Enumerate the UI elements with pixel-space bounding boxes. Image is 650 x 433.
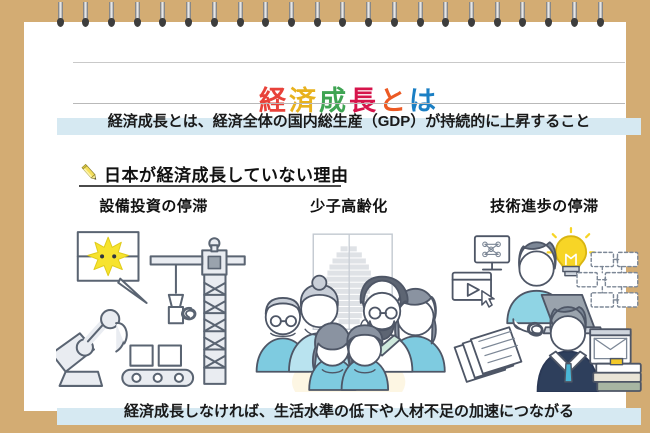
spiral-ring-shaft: [58, 2, 63, 22]
conclusion-text: 経済成長しなければ、生活水準の低下や人材不足の加速につながる: [57, 401, 641, 423]
title-divider-bottom: [73, 103, 625, 104]
spiral-ring-shaft: [495, 2, 500, 22]
spiral-ring-shaft: [418, 2, 423, 22]
aging-population-illustration: [251, 220, 446, 392]
section-heading-label: 日本が経済成長していない理由: [104, 161, 349, 186]
spiral-ring-shaft: [443, 2, 448, 22]
spiral-ring-shaft: [340, 2, 345, 22]
technology-progress-illustration: [447, 220, 642, 392]
definition-banner: 経済成長とは、経済全体の国内総生産（GDP）が持続的に上昇すること: [57, 111, 641, 135]
spiral-ring-shaft: [263, 2, 268, 22]
spiral-ring-shaft: [109, 2, 114, 22]
reason-column-aging-population: 少子高齢化: [251, 195, 446, 393]
spiral-ring-shaft: [315, 2, 320, 22]
title-divider-top: [73, 62, 625, 63]
spiral-ring-shaft: [598, 2, 603, 22]
definition-text: 経済成長とは、経済全体の国内総生産（GDP）が持続的に上昇すること: [57, 111, 641, 133]
spiral-ring-shaft: [520, 2, 525, 22]
reason-title: 設備投資の停滞: [99, 195, 208, 216]
reason-column-technology-progress: 技術進歩の停滞: [447, 195, 642, 393]
notebook-paper: 経済成長とは 経済成長とは、経済全体の国内総生産（GDP）が持続的に上昇すること: [24, 22, 626, 411]
spiral-ring-shaft: [212, 2, 217, 22]
pencil-icon: [79, 162, 101, 184]
spiral-ring-shaft: [546, 2, 551, 22]
spiral-ring-shaft: [469, 2, 474, 22]
spiral-ring-shaft: [135, 2, 140, 22]
reason-column-capital-investment: 設備投資の停滞: [56, 195, 251, 393]
reason-title: 少子高齢化: [310, 195, 388, 216]
spiral-ring-shaft: [289, 2, 294, 22]
section-heading: 日本が経済成長していない理由: [79, 160, 349, 186]
spiral-ring-shaft: [366, 2, 371, 22]
reasons-columns: 設備投資の停滞: [56, 195, 642, 393]
spiral-ring-shaft: [572, 2, 577, 22]
spiral-ring-shaft: [238, 2, 243, 22]
conclusion-banner: 経済成長しなければ、生活水準の低下や人材不足の加速につながる: [57, 401, 641, 425]
spiral-ring-shaft: [160, 2, 165, 22]
spiral-ring-shaft: [83, 2, 88, 22]
spiral-ring-shaft: [186, 2, 191, 22]
section-heading-underline: [79, 185, 341, 187]
spiral-ring-shaft: [392, 2, 397, 22]
infographic-page: 経済成長とは 経済成長とは、経済全体の国内総生産（GDP）が持続的に上昇すること: [0, 0, 650, 433]
reason-title: 技術進歩の停滞: [490, 195, 599, 216]
factory-automation-illustration: [56, 220, 251, 392]
